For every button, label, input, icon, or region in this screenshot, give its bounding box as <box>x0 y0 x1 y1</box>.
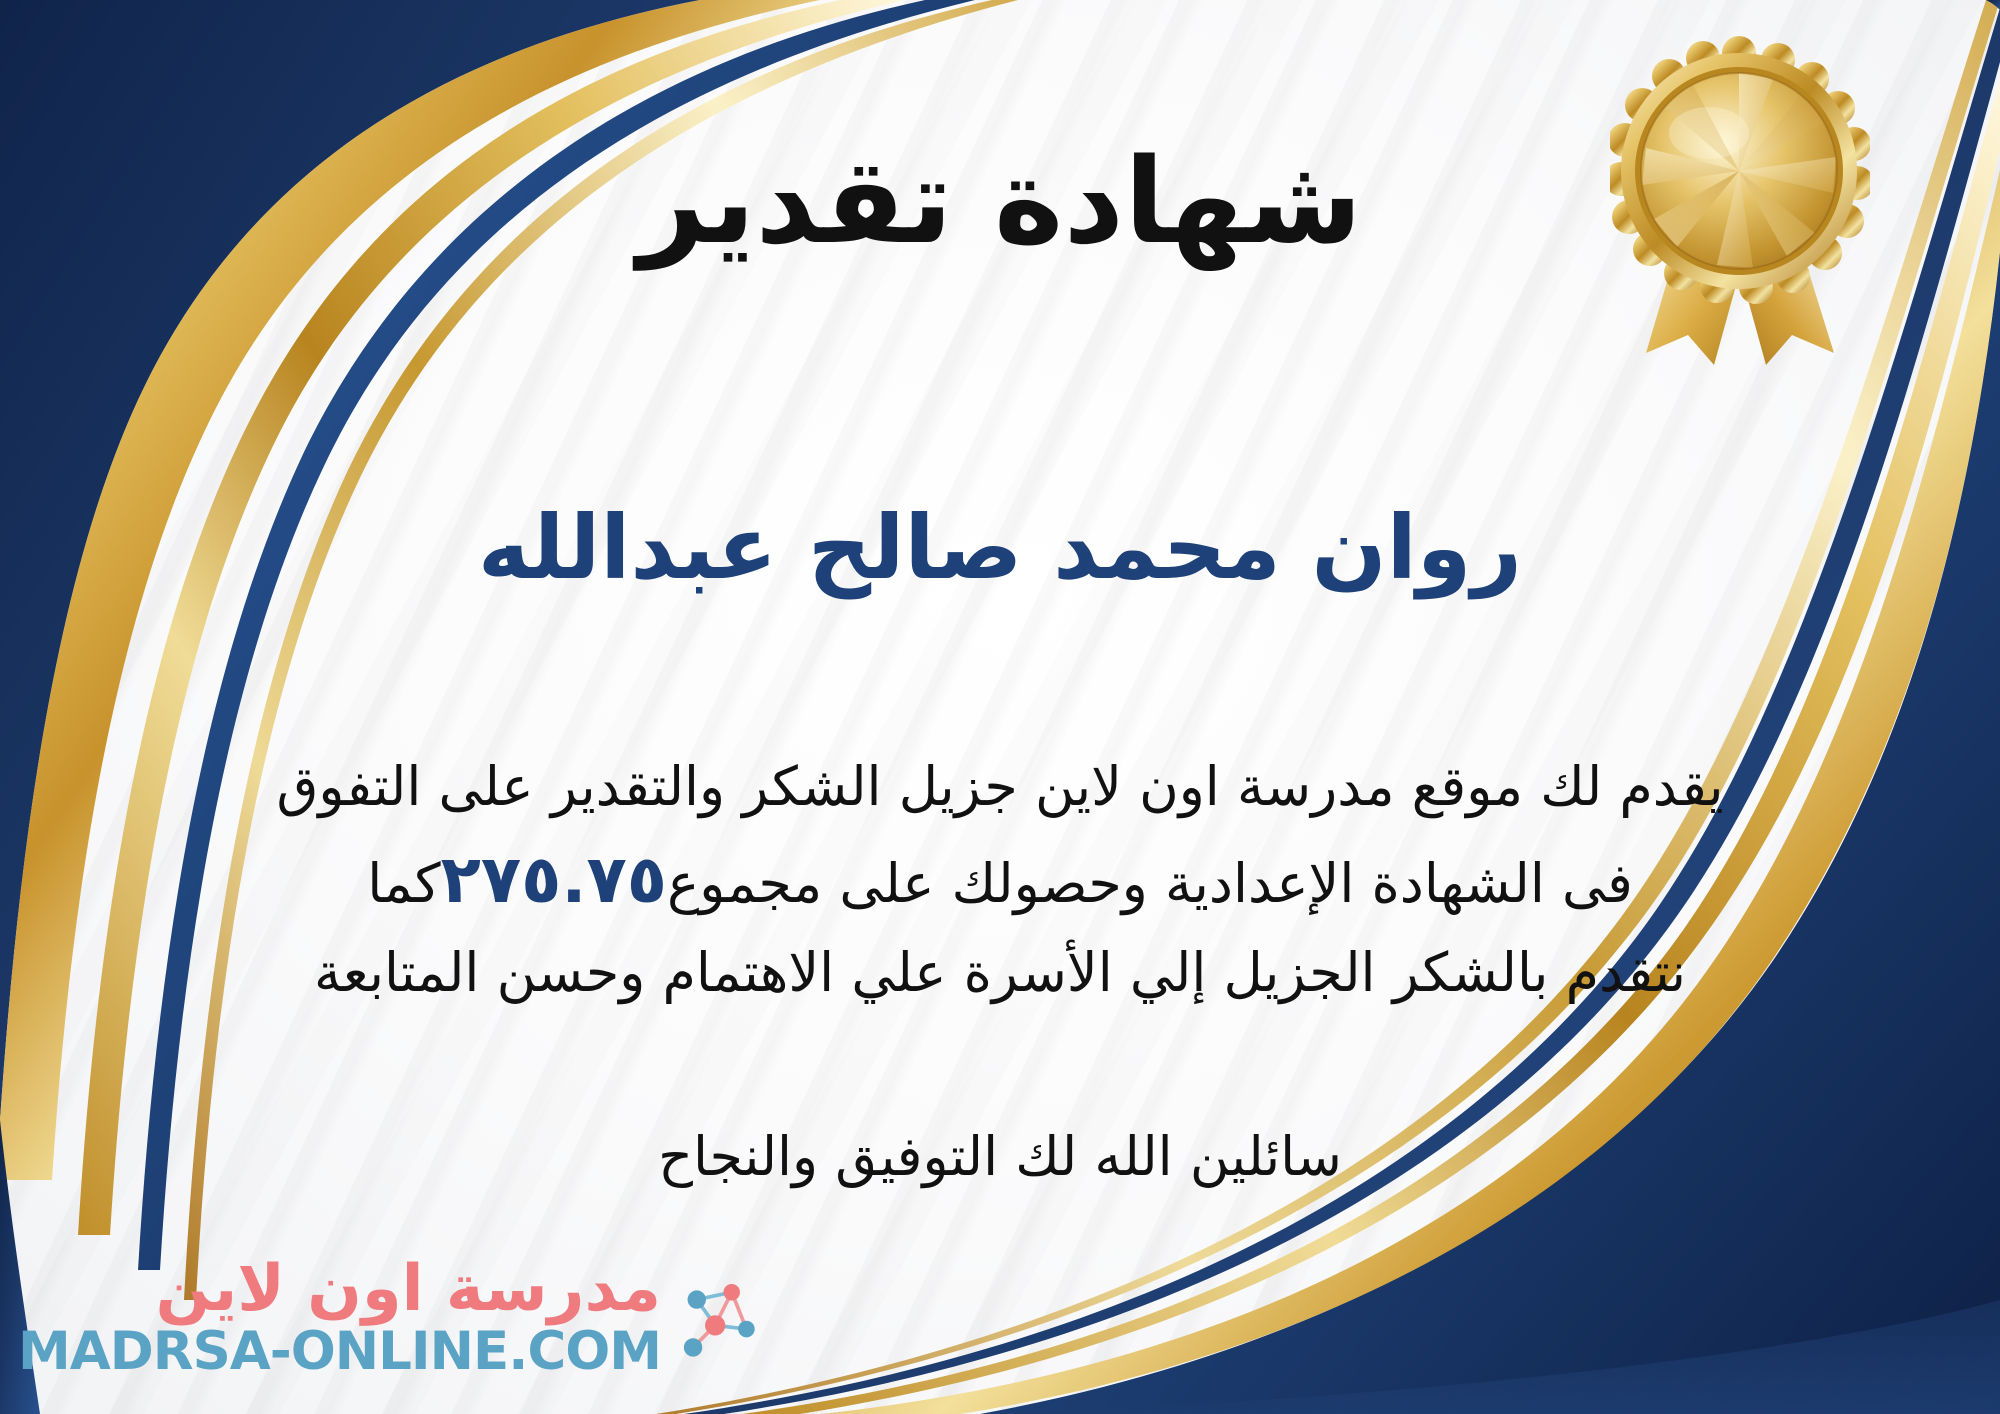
logo-arabic-name: مدرسة اون لاين <box>156 1257 661 1321</box>
score-value: ٢٧٥.٧٥ <box>441 841 668 918</box>
network-nodes-icon <box>671 1272 763 1364</box>
body-line-1: يقدم لك موقع مدرسة اون لاين جزيل الشكر و… <box>60 745 1940 829</box>
certificate-body-text: يقدم لك موقع مدرسة اون لاين جزيل الشكر و… <box>60 745 1940 1015</box>
body-line-3: نتقدم بالشكر الجزيل إلي الأسرة علي الاهت… <box>60 931 1940 1015</box>
body-line-2: فى الشهادة الإعدادية وحصولك على مجموع٢٧٥… <box>60 829 1940 931</box>
site-logo[interactable]: مدرسة اون لاين MADRSA-ONLINE.COM <box>18 1257 763 1378</box>
body-line-2-suffix: كما <box>367 852 440 915</box>
page-title: شهادة تقدير <box>0 140 2000 264</box>
logo-text-group: مدرسة اون لاين MADRSA-ONLINE.COM <box>18 1257 661 1378</box>
certificate-canvas: شهادة تقدير روان محمد صالح عبدالله يقدم … <box>0 0 2000 1414</box>
logo-website-url: MADRSA-ONLINE.COM <box>18 1325 661 1378</box>
body-line-2-prefix: فى الشهادة الإعدادية وحصولك على مجموع <box>667 852 1633 915</box>
recipient-name: روان محمد صالح عبدالله <box>0 500 2000 597</box>
closing-wish-text: سائلين الله لك التوفيق والنجاح <box>0 1125 2000 1188</box>
